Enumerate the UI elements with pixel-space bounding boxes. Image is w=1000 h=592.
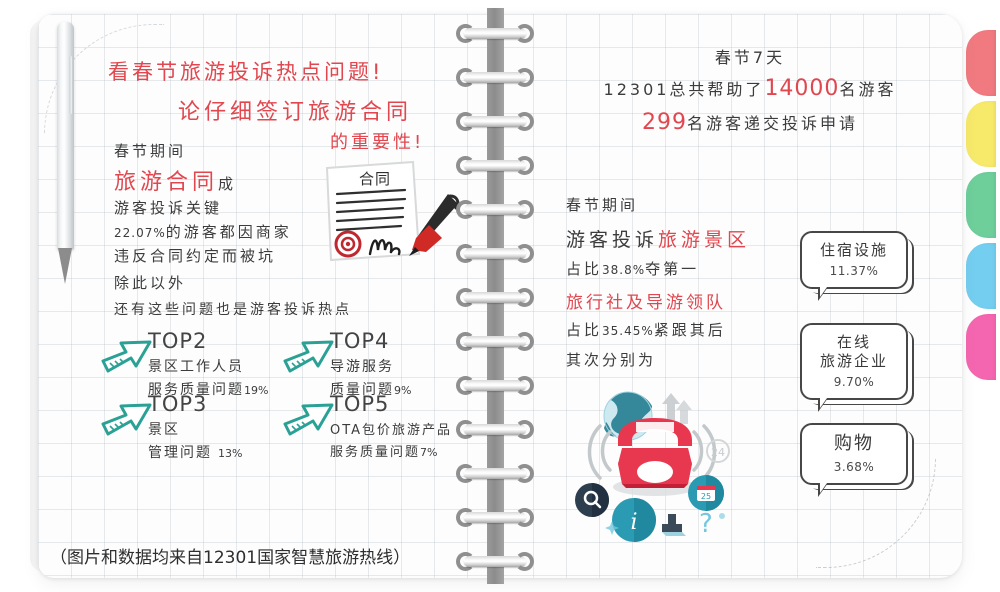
right-body-line-6: 其次分别为 (566, 349, 656, 370)
arrow-right-up-icon (282, 397, 338, 439)
left-lead-big-tail: 成 (218, 175, 237, 193)
left-body-line-3: 违反合同约定而被坑 (114, 245, 276, 266)
bubble-tail-inner (820, 398, 827, 408)
spiral-ring (455, 200, 535, 219)
spiral-ring (455, 156, 535, 175)
right-head-line-2: 12301总共帮助了14000名游客 (560, 76, 940, 101)
top-pct: 7% (420, 446, 437, 459)
right-body-line-2-a: 游客投诉 (566, 229, 658, 251)
tab-red[interactable] (966, 30, 996, 96)
left-body-line-2: 22.07%的游客都因商家 (114, 221, 292, 242)
right-body-line-4-red: 旅行社及导游领队 (566, 293, 726, 313)
top-rank-label: TOP4 (330, 331, 411, 352)
left-body-line-2-rest: 的游客都因商家 (166, 223, 292, 241)
top-line-1: 景区 (148, 419, 242, 439)
search-icon (575, 483, 609, 517)
bubble-label: 购物 (806, 433, 902, 456)
right-head-line-2-b: 名游客 (839, 80, 896, 99)
top-line-1: 景区工作人员 (148, 356, 268, 376)
spiral-ring (455, 376, 535, 395)
tab-green[interactable] (966, 172, 996, 238)
badge-24-icon: 24 (707, 440, 729, 462)
source-caption: （图片和数据均来自12301国家智慧旅游热线） (50, 543, 410, 568)
left-body-line-4: 除此以外 (114, 272, 186, 293)
top-rank-label: TOP2 (148, 331, 268, 352)
infographic-canvas: 看春节旅游投诉热点问题! 论仔细签订旅游合同 的重要性! 春节期间 旅游合同成 … (0, 0, 1000, 592)
scenic-pct: 38.8% (602, 263, 645, 277)
right-head-line-1: 春节7天 (560, 44, 940, 68)
spiral-ring (455, 288, 535, 307)
left-lead-big-red: 旅游合同 (114, 170, 218, 195)
calendar-icon: 25 (688, 475, 724, 511)
top-line-2-text: 管理问题 (148, 445, 212, 461)
calendar-day: 25 (701, 492, 711, 501)
spiral-ring (455, 464, 535, 483)
right-head-line-3: 299名游客递交投诉申请 (560, 110, 940, 135)
complaint-count: 299 (642, 110, 687, 135)
spiral-ring (455, 508, 535, 527)
right-body-line-1: 春节期间 (566, 194, 638, 215)
arrow-right-up-icon (100, 397, 156, 439)
telephone-icon (618, 418, 692, 488)
top-rank-label: TOP3 (148, 394, 242, 415)
spiral-ring (455, 244, 535, 263)
left-lead-line: 春节期间 (114, 140, 186, 161)
bubble-label-a: 在线 (806, 333, 902, 352)
spiral-ring (455, 420, 535, 439)
bubble-online-travel: 在线 旅游企业 9.70% (800, 323, 908, 400)
arrow-right-up-icon (282, 334, 338, 376)
spiral-ring (455, 112, 535, 131)
right-body-line-3-a: 占比 (566, 260, 602, 278)
bubble-pct: 11.37% (806, 264, 902, 278)
spiral-ring (455, 24, 535, 43)
agency-pct: 35.45% (602, 324, 654, 338)
top-rank-label: TOP5 (330, 394, 452, 415)
bubble-accommodation: 住宿设施 11.37% (800, 231, 908, 289)
index-tabs (966, 30, 1000, 385)
top-line-2: 服务质量问题7% (330, 441, 452, 460)
hotline-phone-illustration: 24 i (566, 388, 746, 548)
headline-line-3: 的重要性! (330, 128, 424, 154)
tab-pink[interactable] (966, 314, 996, 380)
spiral-binding (455, 8, 535, 584)
spiral-ring (455, 332, 535, 351)
left-body-line-5: 还有这些问题也是游客投诉热点 (114, 299, 352, 319)
right-body-line-5: 占比35.45%紧跟其后 (566, 319, 726, 340)
right-body-line-5-a: 占比 (566, 321, 602, 339)
headline-line-2: 论仔细签订旅游合同 (178, 94, 412, 126)
bubble-shopping: 购物 3.68% (800, 423, 908, 485)
question-glyph: ? (699, 509, 713, 539)
top-block-5: TOP5 OTA包价旅游产品 服务质量问题7% (330, 394, 452, 460)
info-glyph: i (630, 510, 637, 535)
headline-line-1: 看春节旅游投诉热点问题! (108, 56, 383, 86)
bubble-tail-inner (820, 287, 827, 297)
bubble-label: 住宿设施 (806, 241, 902, 260)
left-body-line-1: 游客投诉关键 (114, 197, 222, 218)
right-body-line-5-b: 紧跟其后 (654, 321, 726, 339)
top-block-4: TOP4 导游服务 质量问题9% (330, 331, 411, 399)
info-icon: i (612, 498, 656, 542)
top-line-2-text: 服务质量问题 (330, 445, 420, 460)
pen-clip (69, 56, 72, 114)
top-pct: 13% (218, 447, 242, 460)
helped-count: 14000 (764, 76, 839, 101)
bubble-tail-inner (820, 483, 827, 493)
tab-blue[interactable] (966, 243, 996, 309)
silver-pen-icon (54, 22, 78, 284)
right-body-line-2-red: 旅游景区 (658, 229, 750, 251)
top-block-2: TOP2 景区工作人员 服务质量问题19% (148, 331, 268, 399)
pen-tip (58, 248, 72, 284)
right-body-line-3: 占比38.8%夺第一 (566, 258, 699, 279)
left-lead-big: 旅游合同成 (114, 164, 237, 196)
bubble-pct: 9.70% (806, 375, 902, 389)
right-body-line-4: 旅行社及导游领队 (566, 288, 726, 313)
badge-24-label: 24 (711, 446, 725, 459)
right-head-line-3-b: 名游客递交投诉申请 (687, 114, 858, 133)
contract-title: 合同 (359, 170, 391, 188)
top-pct: 19% (244, 384, 268, 397)
arrow-right-up-icon (100, 334, 156, 376)
tab-yellow[interactable] (966, 101, 996, 167)
spiral-ring (455, 68, 535, 87)
top-block-3: TOP3 景区 管理问题13% (148, 394, 242, 462)
right-body-line-2: 游客投诉旅游景区 (566, 225, 750, 252)
top-line-1: OTA包价旅游产品 (330, 419, 452, 438)
spiral-ring (455, 552, 535, 571)
top-line-2: 管理问题13% (148, 442, 242, 462)
right-body-line-3-b: 夺第一 (645, 260, 699, 278)
bubble-label-b: 旅游企业 (806, 352, 902, 371)
bubble-pct: 3.68% (806, 460, 902, 474)
right-head-line-2-a: 12301总共帮助了 (604, 80, 765, 99)
top-line-1: 导游服务 (330, 356, 411, 376)
stamp-icon (662, 514, 686, 536)
left-body-pct: 22.07% (114, 226, 166, 240)
